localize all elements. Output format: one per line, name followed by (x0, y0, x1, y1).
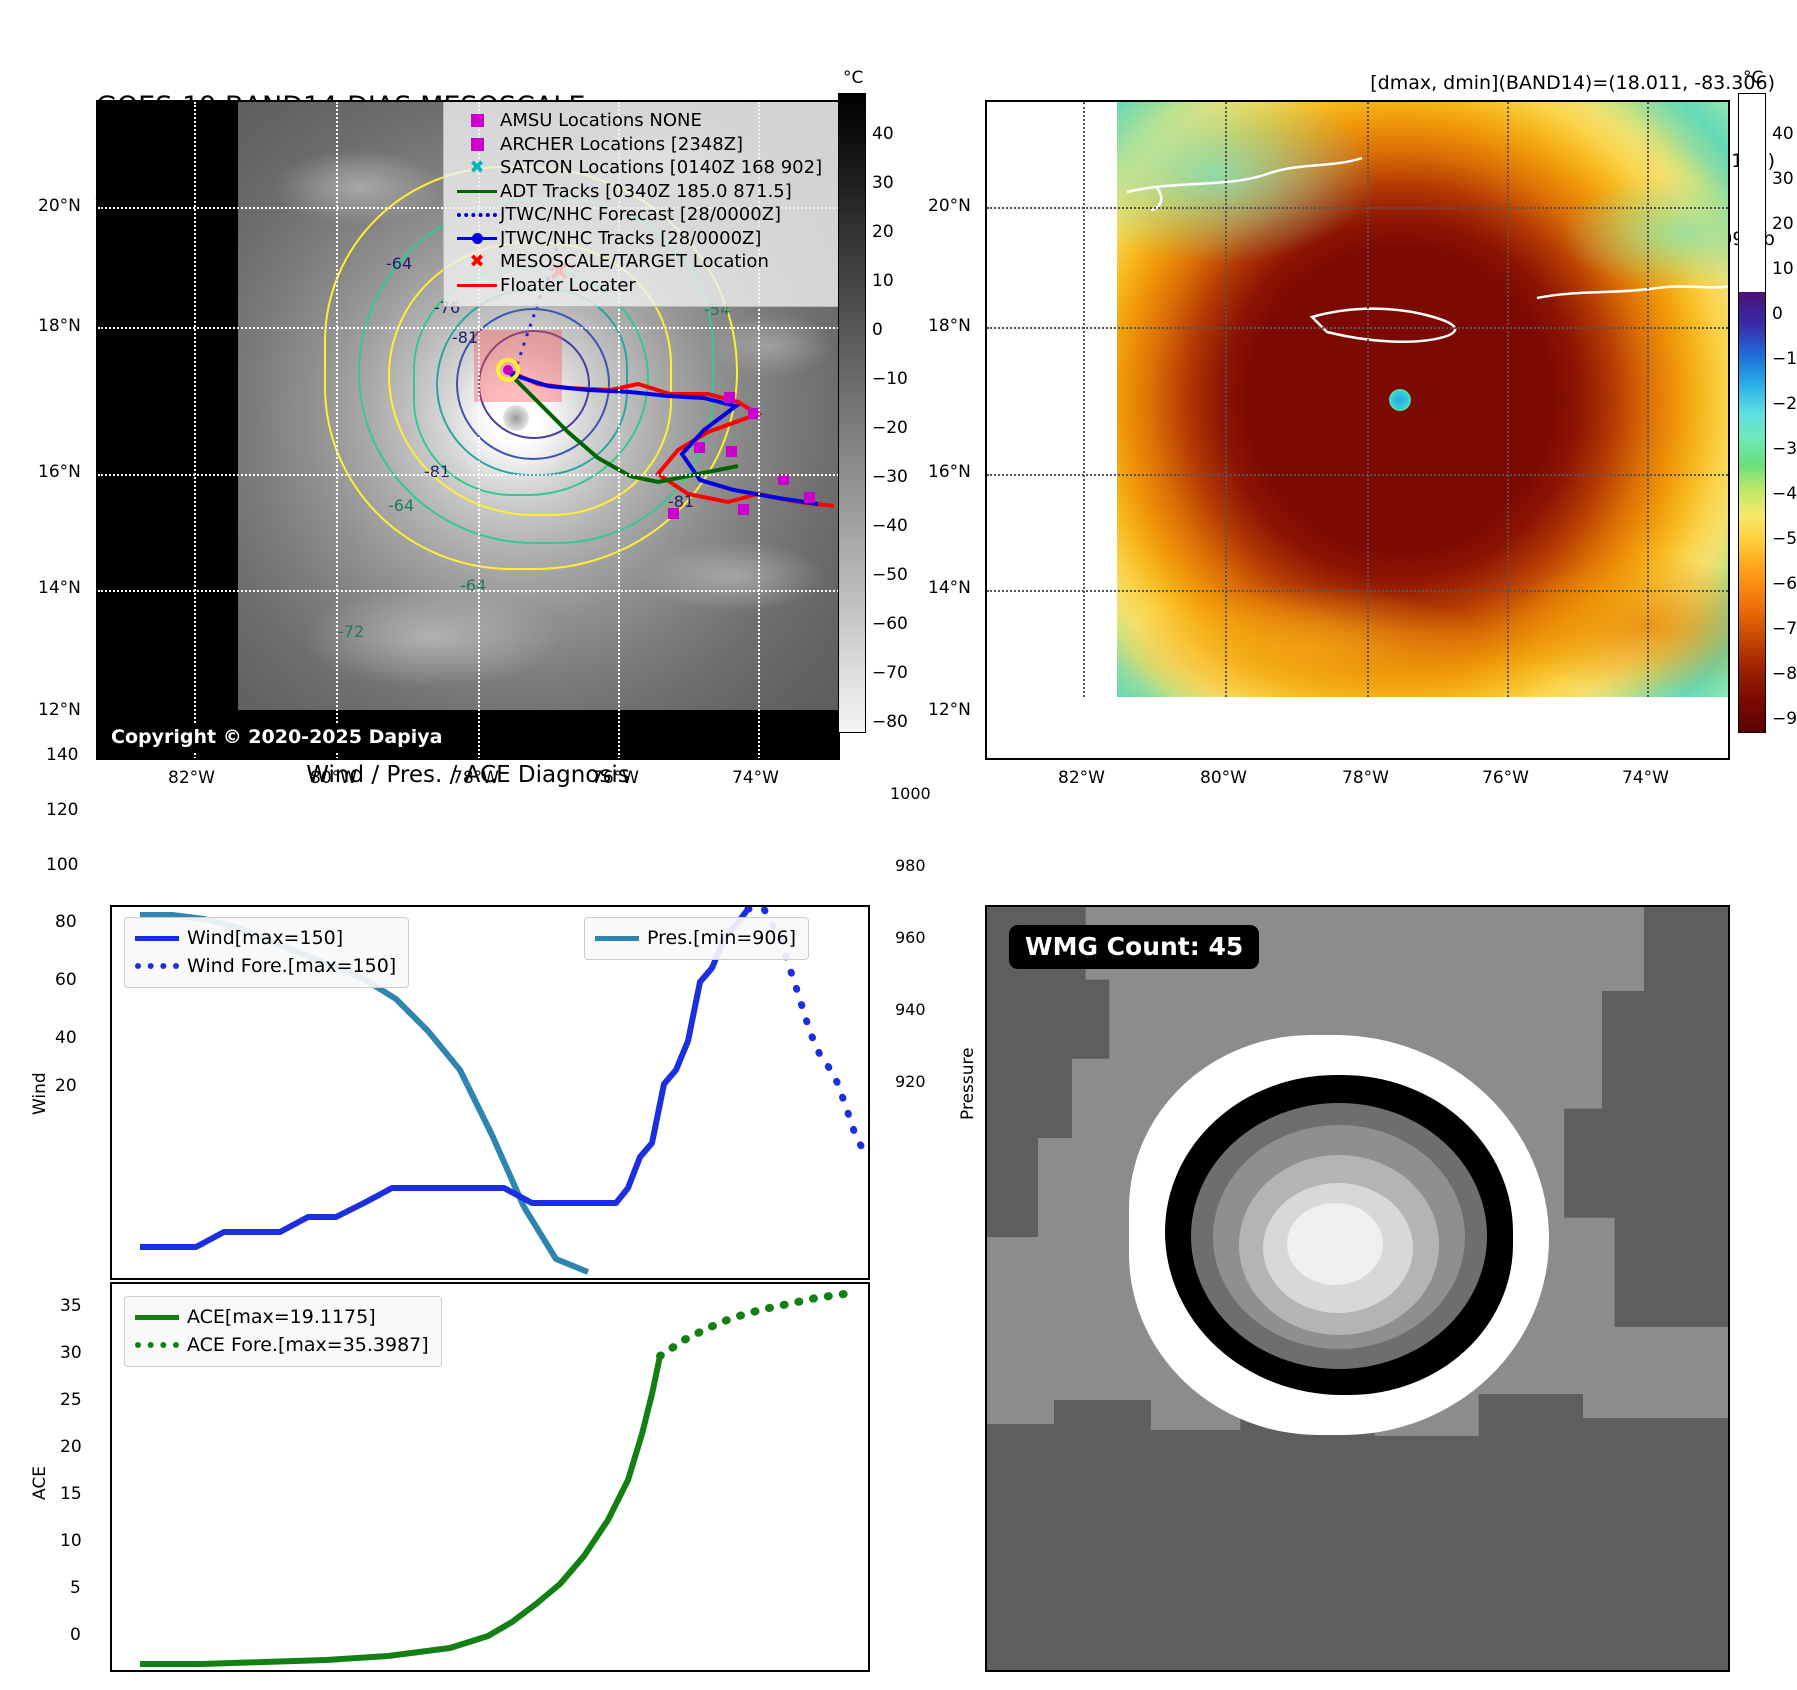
wind-legend: Wind[max=150] Wind Fore.[max=150] (124, 917, 409, 988)
legend-label: ACE[max=19.1175] (187, 1303, 376, 1331)
gridline-lon-82 (194, 102, 196, 760)
ace-forecast-line-icon (135, 1342, 187, 1348)
ir-cb-tick: 30 (872, 173, 894, 193)
awv-lon-tick: 78°W (1342, 768, 1389, 788)
wind-ytick: 140 (46, 745, 78, 765)
ir-satellite-map[interactable]: -64 -76 -81 -54 -81 -64 -64 -72 -81 AMSU… (96, 100, 840, 760)
awv-cb-tick: 30 (1772, 169, 1794, 189)
awv-cb-tick: −70 (1772, 619, 1797, 639)
awv-cb-tick: −50 (1772, 529, 1797, 549)
awv-imagery (1117, 102, 1730, 697)
legend-item-mesoscale: ✖ MESOSCALE/TARGET Location (454, 250, 832, 274)
ir-cb-tick: 0 (872, 320, 883, 340)
gridline-lat-14 (98, 590, 840, 592)
wind-ytick: 40 (55, 1028, 77, 1048)
dotted-line-icon (454, 213, 500, 217)
legend-label: Wind Fore.[max=150] (187, 952, 396, 980)
square-marker-icon (454, 138, 500, 151)
gridline-lat-18 (987, 327, 1730, 329)
legend-item-tracks: JTWC/NHC Tracks [28/0000Z] (454, 227, 832, 251)
wind-ytick: 100 (46, 855, 78, 875)
gridline-lat-18 (98, 327, 840, 329)
contour-label: -72 (338, 622, 364, 641)
contour-label: -81 (424, 462, 450, 481)
legend-label: SATCON Locations [0140Z 168 902] (500, 156, 822, 180)
ir-cb-tick: −30 (872, 467, 908, 487)
ir-cb-tick: −70 (872, 663, 908, 683)
line-marker-icon (454, 190, 500, 193)
dashboard-root: GOES-19 BAND14-DIAS MESOSCALE Time: 2025… (0, 0, 1797, 1690)
contour-label: -64 (388, 496, 414, 515)
pressure-ytick: 1000 (890, 784, 931, 803)
square-marker-icon (454, 114, 500, 127)
awv-cb-tick: −60 (1772, 574, 1797, 594)
legend-item-wind: Wind[max=150] (135, 924, 396, 952)
legend-label: JTWC/NHC Tracks [28/0000Z] (500, 227, 761, 251)
ace-ytick: 10 (60, 1531, 82, 1551)
ace-ytick: 15 (60, 1484, 82, 1504)
wind-ytick: 120 (46, 800, 78, 820)
awv-cb-tick: −80 (1772, 664, 1797, 684)
ir-cb-tick: −50 (872, 565, 908, 585)
diagnosis-title: Wind / Pres. / ACE Diagnosis (96, 762, 840, 788)
ace-legend: ACE[max=19.1175] ACE Fore.[max=35.3987] (124, 1296, 442, 1367)
legend-item-archer: ARCHER Locations [2348Z] (454, 133, 832, 157)
gridline-lat-16 (98, 474, 840, 476)
awv-colorbar-unit: °C (1743, 68, 1763, 88)
legend-label: ACE Fore.[max=35.3987] (187, 1331, 429, 1359)
wmg-count-badge: WMG Count: 45 (1009, 925, 1259, 969)
awv-lon-tick: 76°W (1482, 768, 1529, 788)
wmg-panel[interactable]: WMG Count: 45 (985, 905, 1730, 1672)
pressure-ytick: 920 (895, 1072, 926, 1091)
gridline-lat-14 (987, 590, 1730, 592)
ir-lat-tick: 12°N (38, 700, 81, 720)
ir-colorbar-unit: °C (843, 68, 863, 88)
awv-cb-tick: −10 (1772, 349, 1797, 369)
ace-ytick: 5 (70, 1578, 81, 1598)
gridline-lon-74 (1647, 102, 1649, 697)
coastline-overlay (1117, 102, 1730, 697)
x-marker-icon: ✖ (454, 255, 500, 269)
gridline-lon-76 (1507, 102, 1509, 697)
legend-item-ace: ACE[max=19.1175] (135, 1303, 429, 1331)
awv-satellite-map[interactable] (985, 100, 1730, 760)
dmax-dmin-band14: [dmax, dmin](BAND14)=(18.011, -83.306) (1075, 70, 1775, 96)
ir-map-legend: AMSU Locations NONE ARCHER Locations [23… (443, 100, 840, 307)
awv-cb-tick: −90 (1772, 709, 1797, 729)
ace-axis-label: ACE (30, 1466, 50, 1500)
pressure-line-icon (595, 936, 647, 941)
ir-cb-tick: 20 (872, 222, 894, 242)
legend-label: JTWC/NHC Forecast [28/0000Z] (500, 203, 781, 227)
ace-ytick: 25 (60, 1390, 82, 1410)
line-marker-icon (454, 284, 500, 287)
wmg-ring-center (1287, 1203, 1383, 1285)
awv-cb-tick: 20 (1772, 214, 1794, 234)
awv-cb-tick: −30 (1772, 439, 1797, 459)
awv-colorbar (1738, 93, 1766, 733)
wind-pressure-chart[interactable]: Wind[max=150] Wind Fore.[max=150] Pres.[… (110, 905, 870, 1280)
ir-cb-tick: 40 (872, 124, 894, 144)
ace-ytick: 20 (60, 1437, 82, 1457)
pressure-legend: Pres.[min=906] (584, 917, 809, 960)
ir-cb-tick: −10 (872, 369, 908, 389)
ace-line-icon (135, 1315, 187, 1320)
ace-series (140, 1356, 660, 1664)
pressure-axis-label: Pressure (958, 1047, 978, 1120)
pressure-ytick: 960 (895, 928, 926, 947)
wind-ytick: 80 (55, 912, 77, 932)
awv-lat-tick: 20°N (928, 196, 971, 216)
ace-chart[interactable]: ACE[max=19.1175] ACE Fore.[max=35.3987] (110, 1282, 870, 1672)
contour-label: -64 (386, 254, 412, 273)
copyright-notice: Copyright © 2020-2025 Dapiya (104, 723, 449, 752)
awv-cb-tick: −40 (1772, 484, 1797, 504)
awv-cb-tick: −20 (1772, 394, 1797, 414)
awv-lon-tick: 74°W (1622, 768, 1669, 788)
legend-item-forecast: JTWC/NHC Forecast [28/0000Z] (454, 203, 832, 227)
awv-lon-tick: 80°W (1200, 768, 1247, 788)
awv-lat-tick: 16°N (928, 462, 971, 482)
gridline-lon-80 (1225, 102, 1227, 697)
awv-lon-tick: 82°W (1058, 768, 1105, 788)
wind-ytick: 20 (55, 1076, 77, 1096)
wind-ytick: 60 (55, 970, 77, 990)
legend-item-pressure: Pres.[min=906] (595, 924, 796, 952)
ir-cb-tick: 10 (872, 271, 894, 291)
wind-axis-label: Wind (30, 1072, 50, 1115)
legend-item-amsu: AMSU Locations NONE (454, 109, 832, 133)
wind-line-icon (135, 936, 187, 941)
awv-cb-tick: 40 (1772, 124, 1794, 144)
ir-cb-tick: −60 (872, 614, 908, 634)
pressure-ytick: 980 (895, 856, 926, 875)
ir-lat-tick: 20°N (38, 196, 81, 216)
ace-ytick: 0 (70, 1625, 81, 1645)
gridline-lon-82 (1083, 102, 1085, 697)
ir-cb-tick: −40 (872, 516, 908, 536)
pressure-ytick: 940 (895, 1000, 926, 1019)
ace-forecast-series (660, 1294, 844, 1356)
legend-item-satcon: ✖ SATCON Locations [0140Z 168 902] (454, 156, 832, 180)
contour-label: -64 (460, 576, 486, 595)
awv-lat-tick: 14°N (928, 578, 971, 598)
contour-label: -81 (452, 328, 478, 347)
legend-label: Floater Locater (500, 274, 636, 298)
ir-colorbar (838, 93, 866, 733)
awv-lat-tick: 12°N (928, 700, 971, 720)
legend-label: Pres.[min=906] (647, 924, 796, 952)
ir-lat-tick: 18°N (38, 316, 81, 336)
ir-lat-tick: 14°N (38, 578, 81, 598)
line-dot-marker-icon (454, 237, 500, 240)
awv-cb-tick: 10 (1772, 259, 1794, 279)
gridline-lat-20 (987, 207, 1730, 209)
legend-label: Wind[max=150] (187, 924, 343, 952)
ace-ytick: 35 (60, 1296, 82, 1316)
legend-label: ADT Tracks [0340Z 185.0 871.5] (500, 180, 792, 204)
legend-label: ARCHER Locations [2348Z] (500, 133, 743, 157)
gridline-lon-80 (336, 102, 338, 760)
x-marker-icon: ✖ (454, 161, 500, 175)
legend-item-adt: ADT Tracks [0340Z 185.0 871.5] (454, 180, 832, 204)
awv-cb-tick: 0 (1772, 304, 1783, 324)
gridline-lon-78 (1367, 102, 1369, 697)
legend-item-wind-forecast: Wind Fore.[max=150] (135, 952, 396, 980)
gridline-lat-16 (987, 474, 1730, 476)
contour-label: -81 (668, 492, 694, 511)
wind-forecast-line-icon (135, 963, 187, 969)
legend-item-ace-forecast: ACE Fore.[max=35.3987] (135, 1331, 429, 1359)
ir-cb-tick: −20 (872, 418, 908, 438)
ace-ytick: 30 (60, 1343, 82, 1363)
ir-cb-tick: −80 (872, 712, 908, 732)
legend-label: AMSU Locations NONE (500, 109, 702, 133)
ir-lat-tick: 16°N (38, 462, 81, 482)
legend-label: MESOSCALE/TARGET Location (500, 250, 769, 274)
legend-item-floater: Floater Locater (454, 274, 832, 298)
awv-lat-tick: 18°N (928, 316, 971, 336)
